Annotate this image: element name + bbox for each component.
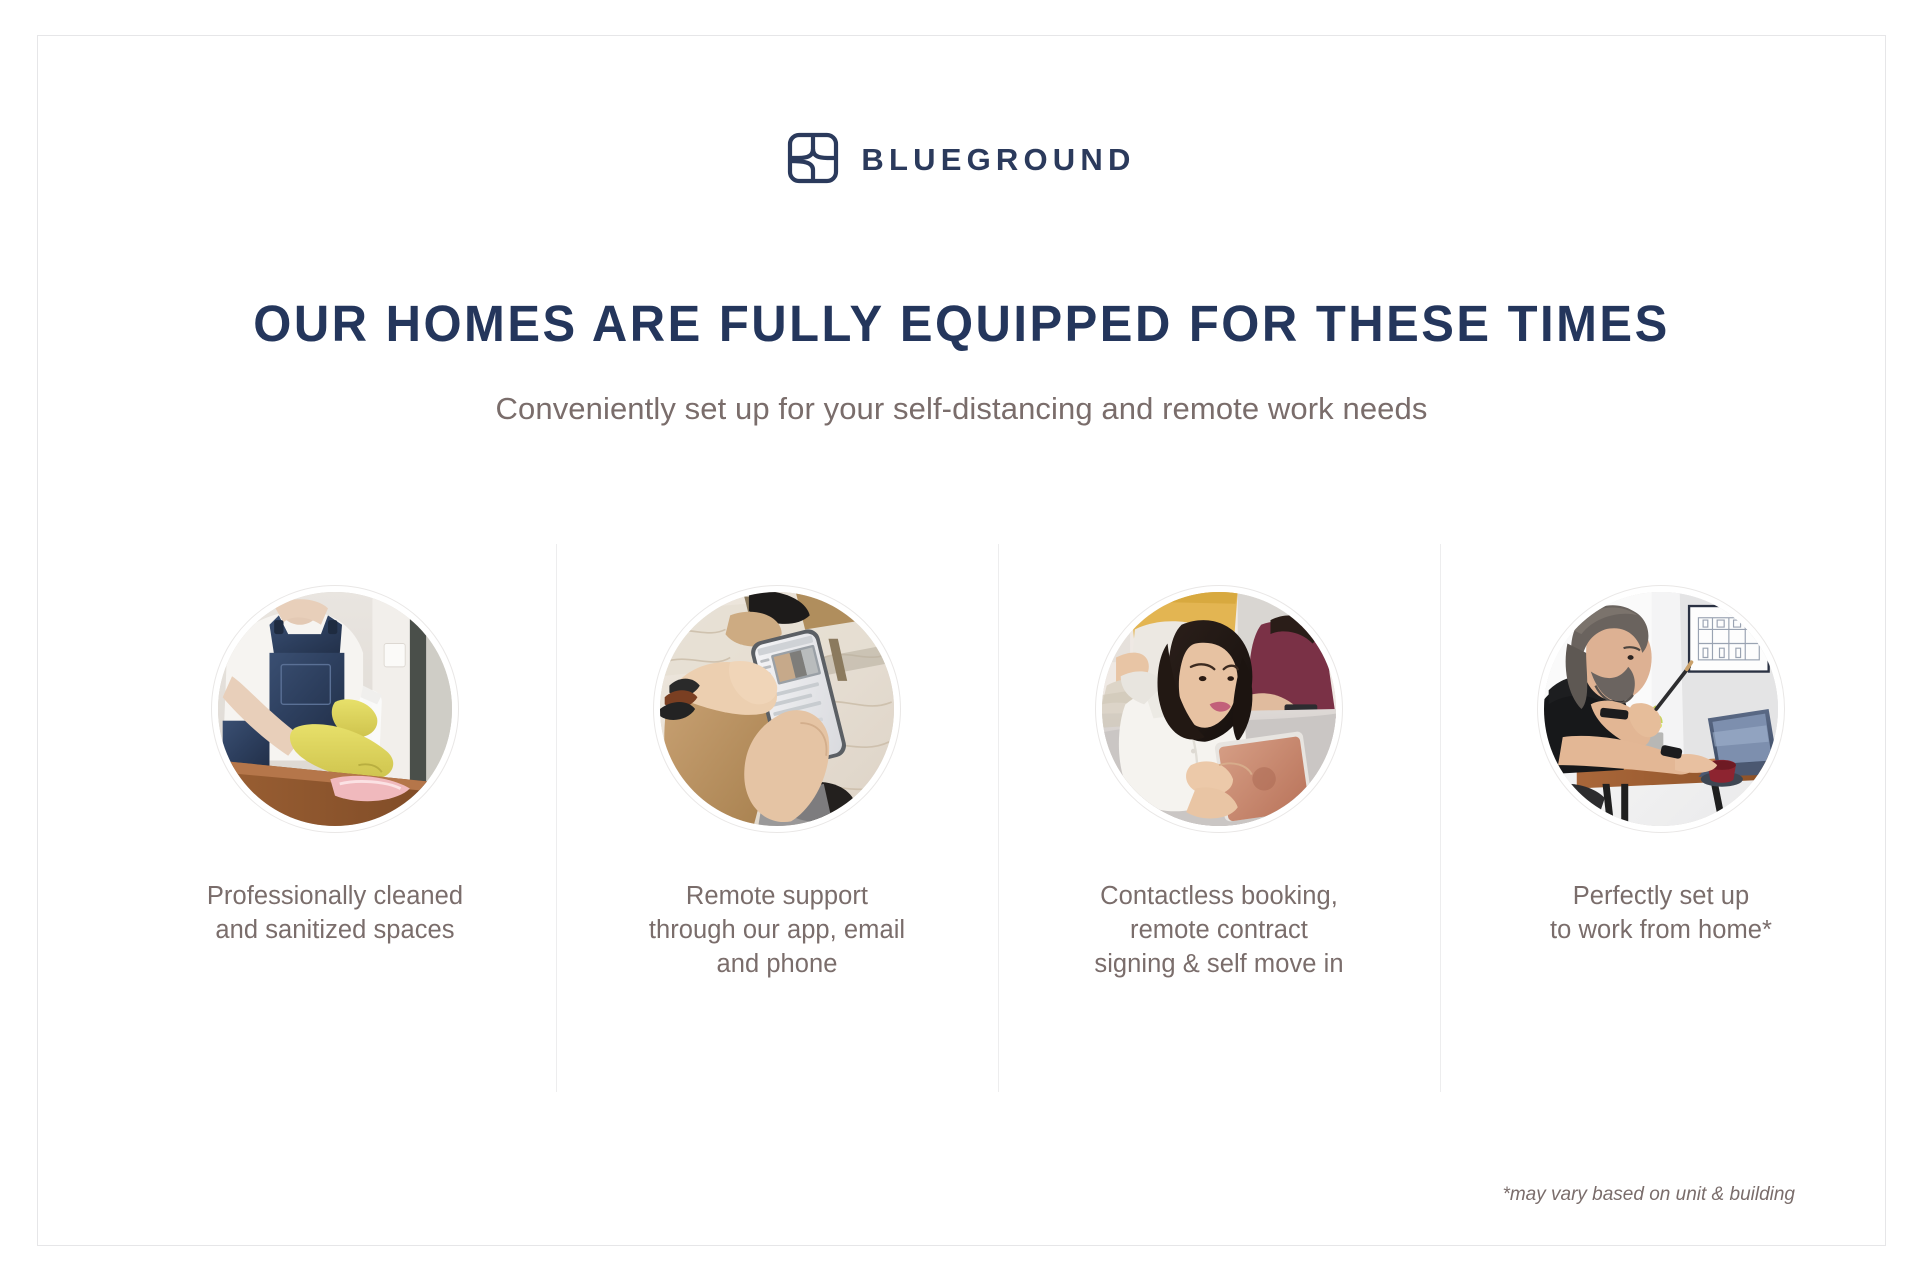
cleaning-person-photo: [218, 592, 452, 826]
feature-caption: Perfectly set up to work from home*: [1550, 880, 1772, 948]
feature-column-work-from-home: Perfectly set up to work from home*: [1440, 544, 1882, 1092]
work-from-home-photo: [1544, 592, 1778, 826]
blueground-square-logo-icon: [787, 132, 839, 184]
photo-ring: [1537, 585, 1785, 833]
feature-caption: Professionally cleaned and sanitized spa…: [207, 880, 463, 948]
photo-ring: [1095, 585, 1343, 833]
feature-caption: Remote support through our app, email an…: [649, 880, 905, 982]
tablet-booking-photo: [1102, 592, 1336, 826]
feature-caption: Contactless booking, remote contract sig…: [1094, 880, 1343, 982]
smartphone-support-photo: [660, 592, 894, 826]
brand-logo: BLUEGROUND: [38, 132, 1885, 184]
feature-column-remote-support: Remote support through our app, email an…: [556, 544, 998, 1092]
feature-column-cleaning: Professionally cleaned and sanitized spa…: [114, 544, 556, 1092]
feature-columns: Professionally cleaned and sanitized spa…: [114, 544, 1882, 1092]
brand-name: BLUEGROUND: [861, 142, 1135, 175]
footnote-text: *may vary based on unit & building: [1502, 1184, 1795, 1206]
feature-column-contactless-booking: Contactless booking, remote contract sig…: [998, 544, 1440, 1092]
photo-ring: [653, 585, 901, 833]
content-frame: BLUEGROUND OUR HOMES ARE FULLY EQUIPPED …: [37, 35, 1886, 1246]
page-subtitle: Conveniently set up for your self-distan…: [38, 391, 1885, 427]
poster-page: BLUEGROUND OUR HOMES ARE FULLY EQUIPPED …: [0, 0, 1920, 1280]
photo-ring: [211, 585, 459, 833]
page-title: OUR HOMES ARE FULLY EQUIPPED FOR THESE T…: [75, 294, 1848, 353]
